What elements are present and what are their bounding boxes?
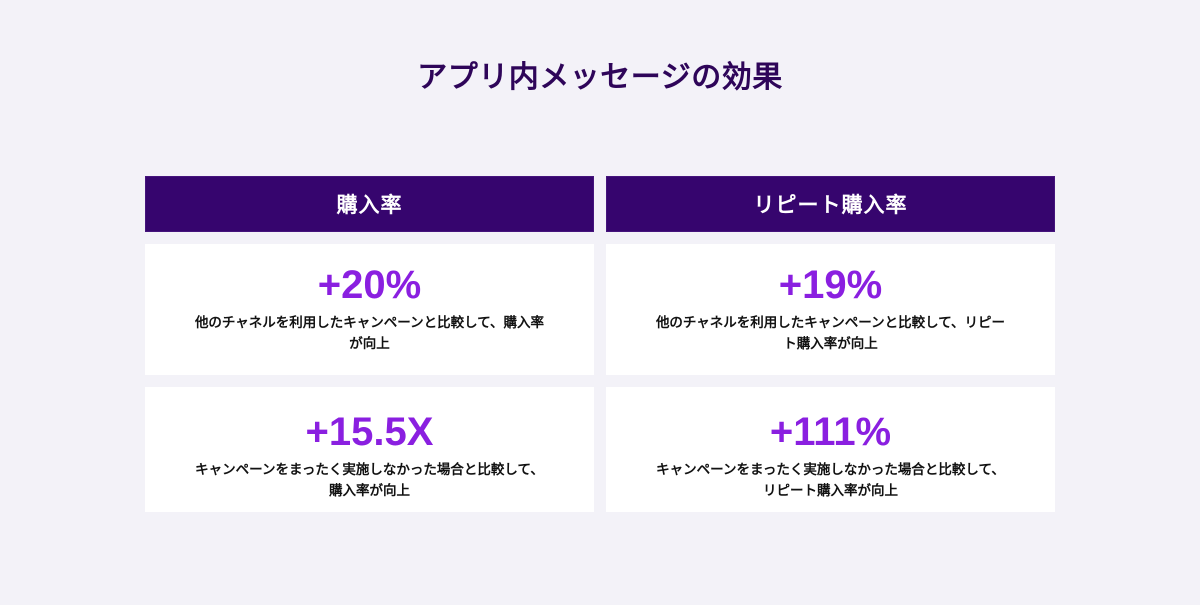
- stat-row-one: +20% 他のチャネルを利用したキャンペーンと比較して、購入率が向上 +19% …: [145, 244, 1055, 375]
- stat-description: キャンペーンをまったく実施しなかった場合と比較して、リピート購入率が向上: [651, 459, 1011, 501]
- stat-value: +20%: [318, 262, 421, 308]
- cell-repeat-purchase-rate-other-channels: +19% 他のチャネルを利用したキャンペーンと比較して、リピート購入率が向上: [606, 244, 1055, 375]
- stat-description: 他のチャネルを利用したキャンペーンと比較して、リピート購入率が向上: [651, 312, 1011, 354]
- stat-card: +19% 他のチャネルを利用したキャンペーンと比較して、リピート購入率が向上: [606, 244, 1055, 375]
- stat-value: +19%: [779, 262, 882, 308]
- column-repeat-purchase-rate: リピート購入率: [606, 176, 1055, 232]
- column-header-repeat-purchase-rate: リピート購入率: [606, 176, 1055, 232]
- stat-card: +20% 他のチャネルを利用したキャンペーンと比較して、購入率が向上: [145, 244, 594, 375]
- cell-repeat-purchase-rate-no-campaign: +111% キャンペーンをまったく実施しなかった場合と比較して、リピート購入率が…: [606, 387, 1055, 512]
- stat-card: +15.5X キャンペーンをまったく実施しなかった場合と比較して、購入率が向上: [145, 387, 594, 512]
- infographic-root: アプリ内メッセージの効果 購入率 リピート購入率 +20% 他のチャネルを利用し…: [0, 0, 1200, 605]
- stat-value: +111%: [770, 409, 891, 455]
- column-purchase-rate: 購入率: [145, 176, 594, 232]
- cell-purchase-rate-other-channels: +20% 他のチャネルを利用したキャンペーンと比較して、購入率が向上: [145, 244, 594, 375]
- header-row: 購入率 リピート購入率: [145, 176, 1055, 232]
- stats-grid: 購入率 リピート購入率 +20% 他のチャネルを利用したキャンペーンと比較して、…: [145, 176, 1055, 512]
- stat-card: +111% キャンペーンをまったく実施しなかった場合と比較して、リピート購入率が…: [606, 387, 1055, 512]
- cell-purchase-rate-no-campaign: +15.5X キャンペーンをまったく実施しなかった場合と比較して、購入率が向上: [145, 387, 594, 512]
- stat-description: 他のチャネルを利用したキャンペーンと比較して、購入率が向上: [190, 312, 550, 354]
- page-title: アプリ内メッセージの効果: [0, 58, 1200, 98]
- column-header-purchase-rate: 購入率: [145, 176, 594, 232]
- stat-row-two: +15.5X キャンペーンをまったく実施しなかった場合と比較して、購入率が向上 …: [145, 387, 1055, 512]
- stat-value: +15.5X: [306, 409, 434, 455]
- stat-description: キャンペーンをまったく実施しなかった場合と比較して、購入率が向上: [190, 459, 550, 501]
